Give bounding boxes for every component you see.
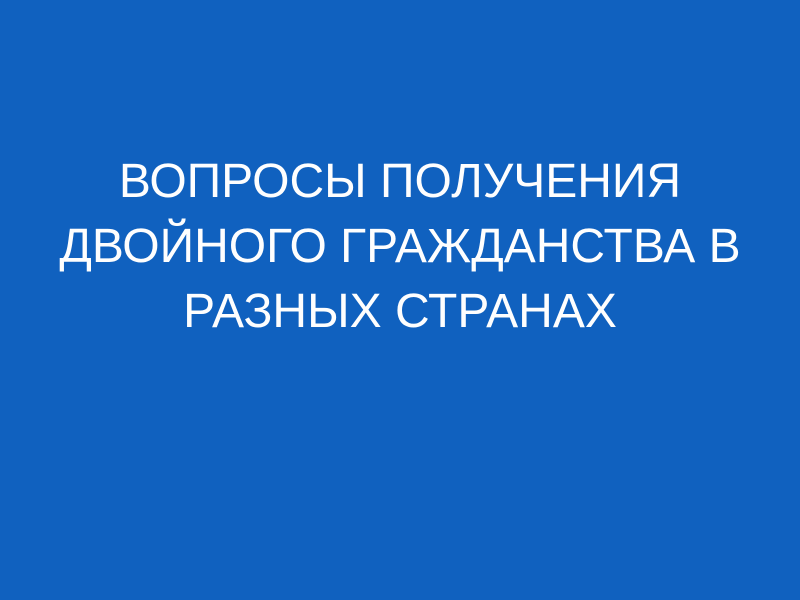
title-line-1: ВОПРОСЫ ПОЛУЧЕНИЯ xyxy=(40,149,760,214)
title-line-2: ДВОЙНОГО ГРАЖДАНСТВА В xyxy=(40,214,760,279)
page-title: ВОПРОСЫ ПОЛУЧЕНИЯ ДВОЙНОГО ГРАЖДАНСТВА В… xyxy=(40,149,760,344)
title-line-3: РАЗНЫХ СТРАНАХ xyxy=(40,279,760,344)
title-card-slide: ВОПРОСЫ ПОЛУЧЕНИЯ ДВОЙНОГО ГРАЖДАНСТВА В… xyxy=(0,0,800,600)
